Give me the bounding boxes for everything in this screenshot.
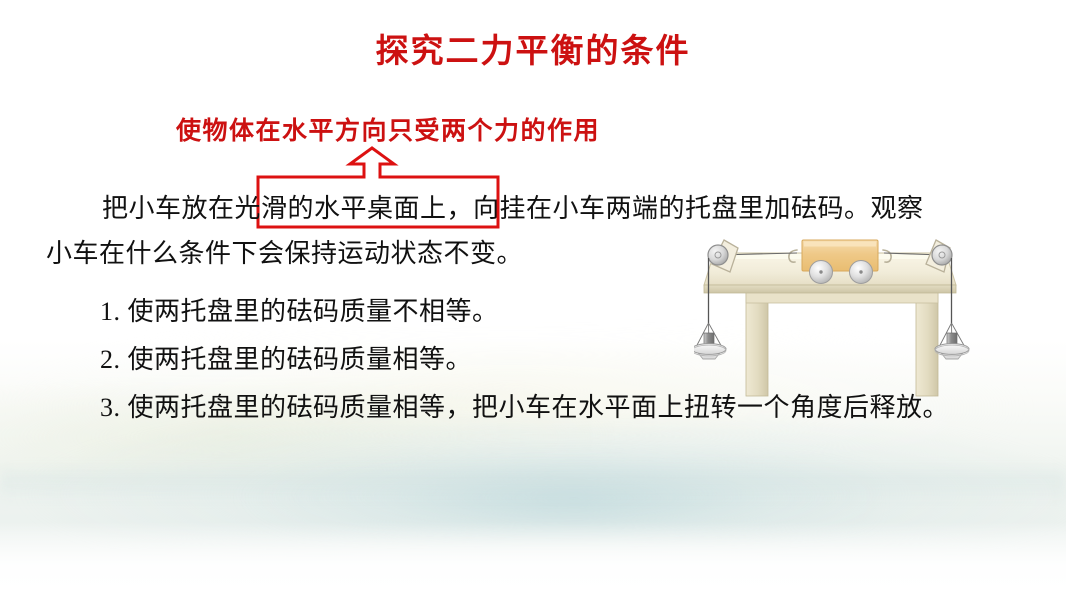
slide-canvas: 探究二力平衡的条件 使物体在水平方向只受两个力的作用 把小车放在光滑的水平桌面上…	[0, 0, 1066, 600]
cart-top-highlight	[804, 242, 876, 247]
body-line-1-pre: 把小车放在	[102, 194, 235, 223]
background-bottom-fade	[0, 522, 1066, 600]
background-wash-streak	[0, 462, 1066, 504]
body-line-1: 把小车放在光滑的水平桌面上，向挂在小车两端的托盘里加砝码。观察	[46, 186, 1036, 231]
cart-wheel-left	[810, 261, 833, 284]
pulley-left-wheel	[708, 245, 728, 265]
body-line-1-boxed: 光滑的水平桌面上	[235, 194, 447, 223]
table-leg-right	[916, 290, 938, 396]
background-wash-blue-2	[85, 460, 874, 530]
cart-wheel-right	[850, 261, 873, 284]
apparatus-figure	[694, 228, 1054, 403]
table-leg-left	[746, 290, 768, 396]
body-line-1-post: ，向挂在小车两端的托盘里加砝码。观察	[447, 194, 924, 223]
background-wash-blue	[0, 422, 1066, 542]
table-front-edge	[704, 285, 956, 293]
page-title: 探究二力平衡的条件	[0, 24, 1066, 72]
pulley-right-wheel	[932, 245, 952, 265]
callout-label: 使物体在水平方向只受两个力的作用	[176, 111, 600, 147]
